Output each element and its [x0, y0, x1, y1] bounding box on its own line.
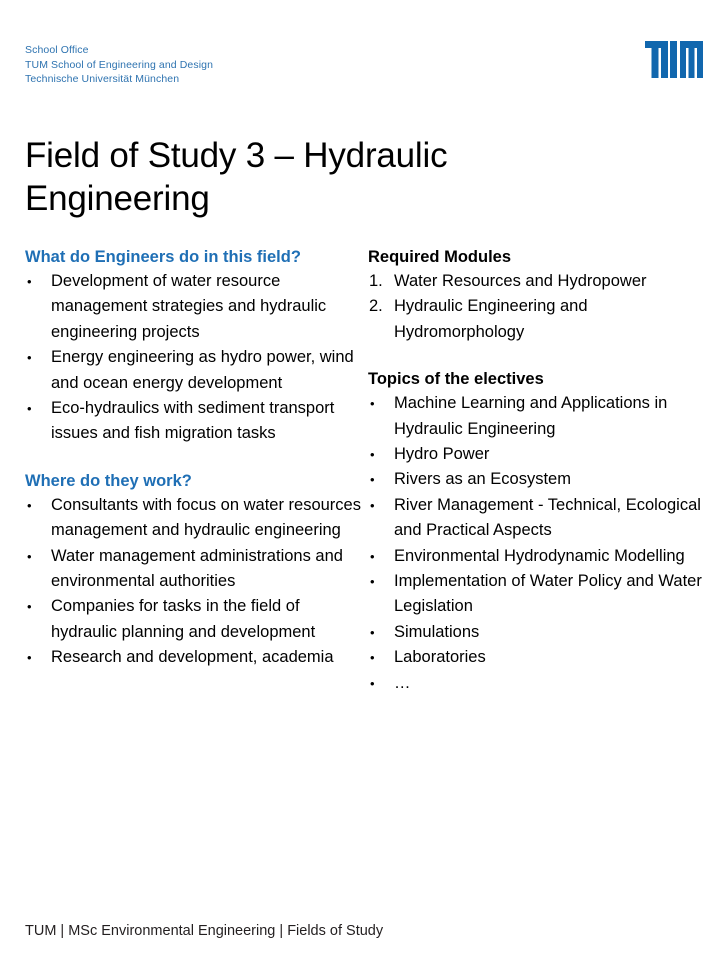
list-item-text: Machine Learning and Applications in Hyd…	[394, 394, 667, 437]
list-item: • Simulations	[368, 620, 703, 645]
right-column: Required Modules 1. Water Resources and …	[368, 246, 703, 696]
bullet-icon: •	[27, 269, 49, 294]
list-item: • Companies for tasks in the field of hy…	[25, 594, 365, 645]
list-item: • Implementation of Water Policy and Wat…	[368, 569, 703, 620]
list-required-modules: 1. Water Resources and Hydropower 2. Hyd…	[368, 269, 703, 345]
list-item-text: River Management - Technical, Ecological…	[394, 496, 701, 539]
bullet-icon: •	[370, 467, 392, 492]
list-item-text: …	[394, 674, 411, 692]
list-item: • Rivers as an Ecosystem	[368, 467, 703, 492]
list-item-text: Implementation of Water Policy and Water…	[394, 572, 702, 615]
list-item: • Development of water resource manageme…	[25, 269, 365, 345]
list-number: 1.	[369, 269, 391, 294]
list-item-text: Simulations	[394, 623, 479, 641]
list-item-text: Development of water resource management…	[51, 272, 326, 341]
list-item-text: Companies for tasks in the field of hydr…	[51, 597, 315, 640]
list-item-text: Water management administrations and env…	[51, 547, 343, 590]
header-line-university: Technische Universität München	[25, 72, 213, 87]
list-item: • Laboratories	[368, 645, 703, 670]
list-item-text: Water Resources and Hydropower	[394, 272, 647, 290]
section-gap	[25, 447, 365, 470]
bullet-icon: •	[27, 645, 49, 670]
list-item: • Hydro Power	[368, 442, 703, 467]
list-item-text: Consultants with focus on water resource…	[51, 496, 361, 539]
list-item-text: Laboratories	[394, 648, 486, 666]
section-heading-engineers-do: What do Engineers do in this field?	[25, 246, 365, 268]
list-item: • …	[368, 671, 703, 696]
list-item: 2. Hydraulic Engineering and Hydromorpho…	[368, 294, 703, 345]
section-required-modules: Required Modules 1. Water Resources and …	[368, 246, 703, 345]
list-item-text: Rivers as an Ecosystem	[394, 470, 571, 488]
list-where-work: • Consultants with focus on water resour…	[25, 493, 365, 671]
bullet-icon: •	[370, 620, 392, 645]
bullet-icon: •	[370, 569, 392, 594]
bullet-icon: •	[370, 671, 392, 696]
section-heading-required-modules: Required Modules	[368, 246, 703, 268]
section-topics-electives: Topics of the electives • Machine Learni…	[368, 368, 703, 696]
bullet-icon: •	[370, 442, 392, 467]
list-item: • Eco-hydraulics with sediment transport…	[25, 396, 365, 447]
bullet-icon: •	[370, 544, 392, 569]
list-engineers-do: • Development of water resource manageme…	[25, 269, 365, 447]
list-item-text: Energy engineering as hydro power, wind …	[51, 348, 354, 391]
bullet-icon: •	[27, 594, 49, 619]
header-line-school-name: TUM School of Engineering and Design	[25, 58, 213, 73]
bullet-icon: •	[27, 345, 49, 370]
section-engineers-do: What do Engineers do in this field? • De…	[25, 246, 365, 447]
bullet-icon: •	[370, 645, 392, 670]
bullet-icon: •	[27, 544, 49, 569]
left-column: What do Engineers do in this field? • De…	[25, 246, 365, 671]
tum-logo	[645, 41, 703, 78]
page-title: Field of Study 3 – Hydraulic Engineering	[25, 134, 625, 220]
header-line-school-office: School Office	[25, 43, 213, 58]
list-item: • Machine Learning and Applications in H…	[368, 391, 703, 442]
section-heading-where-work: Where do they work?	[25, 470, 365, 492]
list-item-text: Hydraulic Engineering and Hydromorpholog…	[394, 297, 588, 340]
list-number: 2.	[369, 294, 391, 319]
bullet-icon: •	[27, 493, 49, 518]
bullet-icon: •	[370, 493, 392, 518]
list-item-text: Eco-hydraulics with sediment transport i…	[51, 399, 334, 442]
list-item-text: Environmental Hydrodynamic Modelling	[394, 547, 685, 565]
list-item: • Energy engineering as hydro power, win…	[25, 345, 365, 396]
list-item-text: Hydro Power	[394, 445, 489, 463]
list-item: • River Management - Technical, Ecologic…	[368, 493, 703, 544]
slide: School Office TUM School of Engineering …	[0, 0, 720, 960]
list-item: • Environmental Hydrodynamic Modelling	[368, 544, 703, 569]
section-where-work: Where do they work? • Consultants with f…	[25, 470, 365, 671]
list-item: • Water management administrations and e…	[25, 544, 365, 595]
bullet-icon: •	[370, 391, 392, 416]
bullet-icon: •	[27, 396, 49, 421]
list-topics-electives: • Machine Learning and Applications in H…	[368, 391, 703, 696]
list-item: • Consultants with focus on water resour…	[25, 493, 365, 544]
section-gap	[368, 345, 703, 368]
section-heading-topics-electives: Topics of the electives	[368, 368, 703, 390]
list-item-text: Research and development, academia	[51, 648, 334, 666]
list-item: • Research and development, academia	[25, 645, 365, 670]
footer-text: TUM | MSc Environmental Engineering | Fi…	[25, 922, 383, 940]
list-item: 1. Water Resources and Hydropower	[368, 269, 703, 294]
header-institution-block: School Office TUM School of Engineering …	[25, 43, 213, 87]
